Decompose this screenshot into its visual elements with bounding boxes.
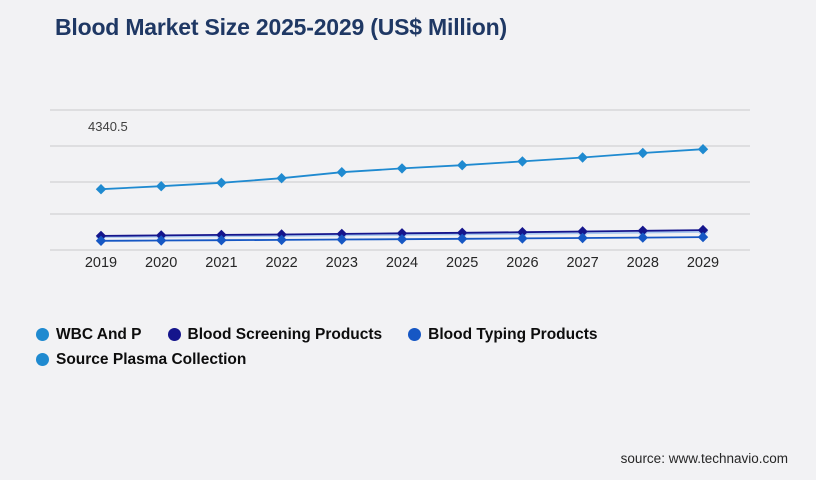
series-blood-typing-products [96, 232, 708, 246]
legend-swatch-icon [408, 328, 421, 341]
data-point-marker [216, 178, 226, 188]
legend-label: Blood Typing Products [428, 326, 597, 344]
data-point-marker [397, 163, 407, 173]
x-tick-label: 2029 [687, 255, 719, 271]
x-tick-label: 2022 [265, 255, 297, 271]
x-axis-tick-labels: 2019202020212022202320242025202620272028… [0, 255, 816, 277]
legend-label: WBC And P [56, 326, 142, 344]
legend-row: Source Plasma Collection [36, 347, 781, 372]
legend-swatch-icon [168, 328, 181, 341]
chart-container: Blood Market Size 2025-2029 (US$ Million… [0, 0, 816, 480]
data-point-marker [638, 148, 648, 158]
x-tick-label: 2028 [627, 255, 659, 271]
legend-row: WBC And PBlood Screening ProductsBlood T… [36, 322, 781, 347]
data-point-marker [457, 160, 467, 170]
source-attribution: source: www.technavio.com [621, 451, 788, 466]
data-label-first-point: 4340.5 [88, 119, 128, 134]
series-source-plasma-collection [96, 144, 708, 194]
x-tick-label: 2021 [205, 255, 237, 271]
legend-item-wbc-and-p[interactable]: WBC And P [36, 326, 142, 344]
legend-swatch-icon [36, 353, 49, 366]
series-layer [96, 144, 708, 246]
x-tick-label: 2024 [386, 255, 418, 271]
legend-swatch-icon [36, 328, 49, 341]
legend-item-blood-typing-products[interactable]: Blood Typing Products [408, 326, 597, 344]
data-point-marker [337, 167, 347, 177]
chart-legend: WBC And PBlood Screening ProductsBlood T… [36, 322, 781, 372]
x-tick-label: 2019 [85, 255, 117, 271]
x-tick-label: 2020 [145, 255, 177, 271]
data-point-marker [577, 152, 587, 162]
data-point-marker [517, 156, 527, 166]
x-tick-label: 2027 [566, 255, 598, 271]
data-point-marker [96, 184, 106, 194]
legend-item-blood-screening-products[interactable]: Blood Screening Products [168, 326, 383, 344]
legend-item-source-plasma-collection[interactable]: Source Plasma Collection [36, 351, 246, 369]
data-point-marker [156, 181, 166, 191]
x-tick-label: 2023 [326, 255, 358, 271]
legend-label: Source Plasma Collection [56, 351, 246, 369]
x-tick-label: 2026 [506, 255, 538, 271]
legend-label: Blood Screening Products [188, 326, 383, 344]
x-tick-label: 2025 [446, 255, 478, 271]
